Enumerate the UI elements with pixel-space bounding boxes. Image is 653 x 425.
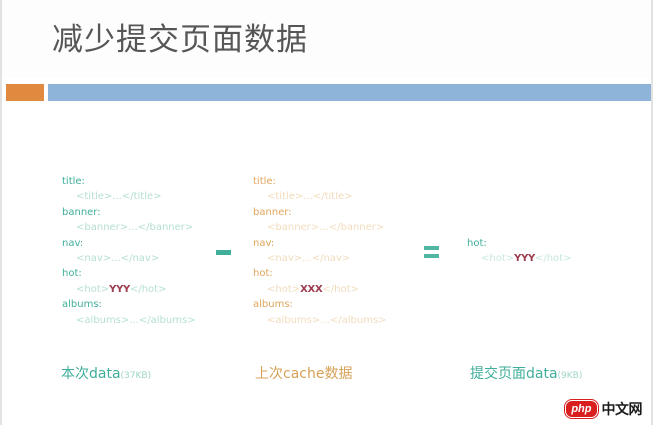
code-line: <banner>...</banner>	[62, 220, 196, 235]
tag-content: ...	[303, 191, 313, 202]
code-line: nav:	[62, 236, 196, 251]
code-line: <hot>YYY</hot>	[62, 282, 196, 297]
caption-size: (37KB)	[121, 371, 152, 381]
tag-open: <albums>	[267, 315, 320, 326]
tag-open: <nav>	[76, 253, 111, 264]
code-key: albums:	[62, 299, 102, 310]
tag-content: ...	[128, 222, 138, 233]
tag-close: </hot>	[322, 284, 359, 295]
php-logo-badge: php	[565, 400, 597, 418]
code-line: <banner>...</banner>	[253, 220, 387, 235]
code-key: hot:	[467, 238, 487, 249]
accent-bar-orange	[6, 84, 44, 101]
caption-label: 上次cache数据	[255, 366, 352, 382]
code-line: <albums>...</albums>	[253, 313, 387, 328]
tag-open: <nav>	[267, 253, 302, 264]
code-line: albums:	[62, 297, 196, 312]
code-block-cache-data: title: <title>...</title> banner: <banne…	[253, 174, 387, 328]
caption-cache-data: 上次cache数据	[255, 363, 352, 383]
tag-content: ...	[302, 253, 312, 264]
code-line: <hot>XXX</hot>	[253, 282, 387, 297]
equals-operator-icon	[424, 246, 439, 259]
tag-open: <albums>	[76, 315, 129, 326]
minus-operator-icon	[216, 250, 231, 255]
code-line: <hot>YYY</hot>	[467, 251, 571, 266]
caption-label: 本次data	[61, 366, 121, 382]
code-line: <nav>...</nav>	[62, 251, 196, 266]
code-line: title:	[253, 174, 387, 189]
slide-header: 减少提交页面数据	[2, 0, 653, 78]
code-key: hot:	[62, 268, 82, 279]
code-block-submit-data: hot: <hot>YYY</hot>	[467, 236, 571, 267]
tag-open: <banner>	[76, 222, 128, 233]
code-key: hot:	[253, 268, 273, 279]
caption-label: 提交页面data	[470, 366, 558, 382]
tag-open: <title>	[267, 191, 303, 202]
tag-open: <hot>	[481, 253, 514, 264]
equals-bar-top	[424, 246, 439, 250]
tag-content: ...	[319, 222, 329, 233]
tag-close: </banner>	[138, 222, 194, 233]
code-line: <albums>...</albums>	[62, 313, 196, 328]
tag-content: ...	[111, 253, 121, 264]
tag-content-highlight: YYY	[514, 253, 535, 264]
tag-close: </albums>	[330, 315, 387, 326]
code-key: title:	[62, 176, 85, 187]
code-key: nav:	[253, 238, 274, 249]
watermark: php 中文网	[562, 397, 645, 421]
caption-submit-data: 提交页面data(9KB)	[470, 363, 582, 383]
caption-size: (9KB)	[558, 371, 583, 381]
tag-content: ...	[112, 191, 122, 202]
code-key: banner:	[62, 207, 101, 218]
code-key: albums:	[253, 299, 293, 310]
code-line: hot:	[62, 266, 196, 281]
code-line: <title>...</title>	[62, 189, 196, 204]
code-line: title:	[62, 174, 196, 189]
tag-open: <banner>	[267, 222, 319, 233]
code-line: banner:	[62, 205, 196, 220]
tag-content-highlight: XXX	[300, 284, 322, 295]
accent-bar-blue	[48, 84, 653, 101]
tag-close: </nav>	[121, 253, 160, 264]
tag-content: ...	[320, 315, 330, 326]
tag-open: <hot>	[76, 284, 109, 295]
page-title: 减少提交页面数据	[52, 20, 308, 60]
code-line: nav:	[253, 236, 387, 251]
tag-content: ...	[129, 315, 139, 326]
tag-open: <hot>	[267, 284, 300, 295]
code-key: banner:	[253, 207, 292, 218]
code-line: hot:	[253, 266, 387, 281]
watermark-text: 中文网	[602, 399, 643, 419]
equals-bar-bottom	[424, 254, 439, 258]
code-line: banner:	[253, 205, 387, 220]
code-block-current-data: title: <title>...</title> banner: <banne…	[62, 174, 196, 328]
code-line: <title>...</title>	[253, 189, 387, 204]
tag-close: </hot>	[130, 284, 167, 295]
code-line: hot:	[467, 236, 571, 251]
code-key: title:	[253, 176, 276, 187]
tag-close: </title>	[122, 191, 162, 202]
tag-close: </nav>	[312, 253, 351, 264]
tag-open: <title>	[76, 191, 112, 202]
tag-close: </albums>	[139, 315, 196, 326]
slide-canvas: 减少提交页面数据 title: <title>...</title> banne…	[0, 0, 653, 425]
code-line: <nav>...</nav>	[253, 251, 387, 266]
tag-close: </title>	[313, 191, 353, 202]
code-line: albums:	[253, 297, 387, 312]
tag-close: </hot>	[535, 253, 572, 264]
tag-close: </banner>	[329, 222, 385, 233]
caption-current-data: 本次data(37KB)	[61, 363, 151, 383]
code-key: nav:	[62, 238, 83, 249]
tag-content-highlight: YYY	[109, 284, 130, 295]
